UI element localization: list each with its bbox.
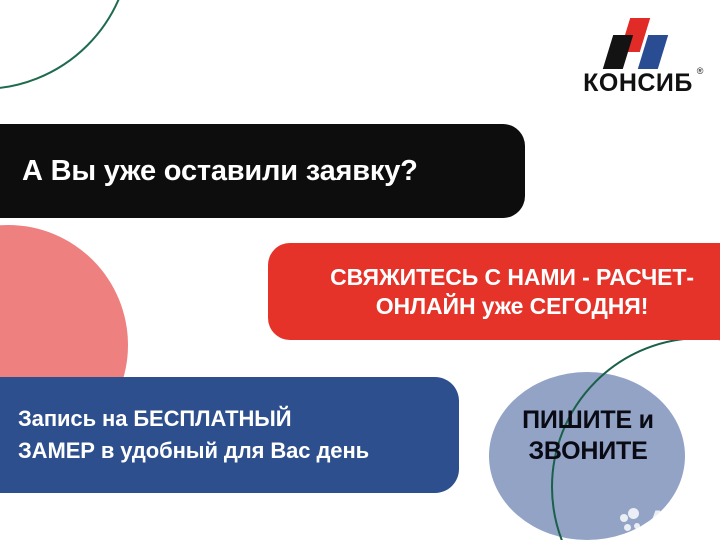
avito-watermark: Avito (620, 507, 712, 534)
logo-wordmark-text: КОНСИБ (583, 69, 693, 97)
logo-wordmark: КОНСИБ ® (583, 71, 693, 96)
decorative-circle-green-top-left (0, 0, 132, 90)
logo-parallelogram-black-icon (603, 35, 633, 69)
registered-trademark-icon: ® (697, 67, 704, 76)
brand-logo: КОНСИБ ® (570, 18, 706, 96)
offer-banner-blue-line-1: Запись на БЕСПЛАТНЫЙ (18, 403, 441, 435)
offer-banner-red-line-1: СВЯЖИТЕСЬ С НАМИ - РАСЧЕТ- (330, 263, 694, 292)
offer-banner-blue: Запись на БЕСПЛАТНЫЙ ЗАМЕР в удобный для… (0, 377, 459, 493)
contact-callout: ПИШИТЕ и ЗВОНИТЕ (492, 405, 684, 468)
offer-banner-red: СВЯЖИТЕСЬ С НАМИ - РАСЧЕТ- ОНЛАЙН уже СЕ… (268, 243, 720, 340)
logo-mark-icon (598, 18, 678, 68)
offer-banner-red-line-2: ОНЛАЙН уже СЕГОДНЯ! (376, 292, 649, 321)
avito-watermark-label: Avito (648, 507, 712, 534)
offer-banner-blue-line-2: ЗАМЕР в удобный для Вас день (18, 435, 441, 467)
contact-callout-line-2: ЗВОНИТЕ (492, 436, 684, 467)
headline-banner-black-line-1: А Вы уже оставили заявку? (22, 155, 505, 188)
promo-banner-canvas: КОНСИБ ® А Вы уже оставили заявку? СВЯЖИ… (0, 0, 720, 540)
contact-callout-line-1: ПИШИТЕ и (492, 405, 684, 436)
avito-dots-icon (620, 508, 646, 534)
headline-banner-black: А Вы уже оставили заявку? (0, 124, 525, 218)
